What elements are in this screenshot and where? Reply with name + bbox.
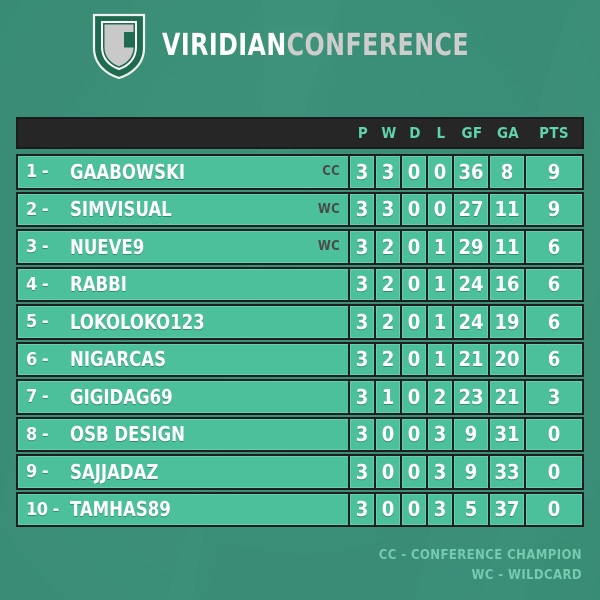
row-stat-w: 3: [376, 156, 402, 188]
row-stat-ga: 21: [490, 381, 526, 413]
table-row[interactable]: 3 -NUEVE9WC320129116: [16, 229, 584, 265]
row-stat-w: 2: [376, 344, 402, 376]
row-stat-p: 3: [350, 306, 376, 338]
row-rank: 9 -: [18, 456, 66, 488]
row-rank: 2 -: [18, 194, 66, 226]
standings-table: P W D L GF GA PTS 1 -GAABOWSKICC33003689…: [16, 117, 584, 529]
row-name-cell: RABBI: [66, 269, 350, 301]
row-team-name: RABBI: [70, 272, 127, 296]
row-stat-gf: 27: [454, 194, 490, 226]
row-stat-pts: 0: [526, 419, 582, 451]
table-row[interactable]: 6 -NIGARCAS320121206: [16, 342, 584, 378]
row-stat-l: 1: [428, 344, 454, 376]
row-stat-p: 3: [350, 269, 376, 301]
shield-icon: [90, 12, 148, 80]
column-header-ga: GA: [490, 124, 526, 142]
row-team-name: SAJJADAZ: [70, 460, 158, 484]
table-row[interactable]: 7 -GIGIDAG69310223213: [16, 379, 584, 415]
row-stat-w: 1: [376, 381, 402, 413]
row-rank: 7 -: [18, 381, 66, 413]
row-team-name: SIMVISUAL: [70, 197, 172, 221]
row-qualification-tag: CC: [322, 164, 340, 179]
row-qualification-tag: WC: [318, 202, 340, 217]
row-stat-gf: 23: [454, 381, 490, 413]
row-stat-pts: 6: [526, 231, 582, 263]
legend-line-cc: CC - CONFERENCE CHAMPION: [379, 546, 582, 566]
header: VIRIDIANCONFERENCE: [0, 0, 600, 92]
page-title: VIRIDIANCONFERENCE: [162, 31, 469, 61]
row-stat-pts: 6: [526, 344, 582, 376]
table-header-row: P W D L GF GA PTS: [16, 117, 584, 149]
row-stat-d: 0: [402, 494, 428, 526]
row-stat-gf: 24: [454, 269, 490, 301]
row-stat-gf: 24: [454, 306, 490, 338]
row-stat-w: 0: [376, 494, 402, 526]
table-row[interactable]: 4 -RABBI320124166: [16, 267, 584, 303]
column-header-pts: PTS: [526, 124, 582, 142]
row-rank: 3 -: [18, 231, 66, 263]
row-stat-d: 0: [402, 419, 428, 451]
column-header-d: D: [402, 124, 428, 142]
row-team-name: NUEVE9: [70, 235, 144, 259]
row-team-name: TAMHAS89: [70, 497, 171, 521]
row-stat-l: 0: [428, 156, 454, 188]
table-row[interactable]: 8 -OSB DESIGN30039310: [16, 417, 584, 453]
row-stat-p: 3: [350, 231, 376, 263]
row-name-cell: OSB DESIGN: [66, 419, 350, 451]
table-body: 1 -GAABOWSKICC330036892 -SIMVISUALWC3300…: [16, 154, 584, 527]
row-team-name: GAABOWSKI: [70, 160, 185, 184]
row-stat-ga: 11: [490, 194, 526, 226]
row-name-cell: NUEVE9WC: [66, 231, 350, 263]
row-stat-d: 0: [402, 231, 428, 263]
row-stat-ga: 31: [490, 419, 526, 451]
row-stat-w: 3: [376, 194, 402, 226]
row-stat-gf: 29: [454, 231, 490, 263]
table-row[interactable]: 2 -SIMVISUALWC330027119: [16, 192, 584, 228]
title-part-conference: CONFERENCE: [286, 28, 468, 63]
row-stat-l: 3: [428, 494, 454, 526]
row-stat-p: 3: [350, 494, 376, 526]
row-stat-gf: 9: [454, 419, 490, 451]
row-stat-ga: 33: [490, 456, 526, 488]
row-stat-w: 2: [376, 269, 402, 301]
row-stat-w: 2: [376, 231, 402, 263]
column-header-gf: GF: [454, 124, 490, 142]
row-stat-p: 3: [350, 344, 376, 376]
title-part-viridian: VIRIDIAN: [162, 28, 287, 63]
row-qualification-tag: WC: [318, 239, 340, 254]
row-name-cell: TAMHAS89: [66, 494, 350, 526]
row-stat-gf: 21: [454, 344, 490, 376]
column-header-w: W: [376, 124, 402, 142]
row-rank: 5 -: [18, 306, 66, 338]
row-stat-pts: 9: [526, 194, 582, 226]
row-stat-d: 0: [402, 344, 428, 376]
row-name-cell: LOKOLOKO123: [66, 306, 350, 338]
table-row[interactable]: 9 -SAJJADAZ30039330: [16, 454, 584, 490]
row-team-name: GIGIDAG69: [70, 385, 173, 409]
row-stat-w: 2: [376, 306, 402, 338]
row-stat-d: 0: [402, 306, 428, 338]
row-stat-ga: 19: [490, 306, 526, 338]
row-stat-w: 0: [376, 456, 402, 488]
row-rank: 8 -: [18, 419, 66, 451]
row-rank: 10 -: [18, 494, 66, 526]
row-stat-d: 0: [402, 194, 428, 226]
row-team-name: LOKOLOKO123: [70, 310, 205, 334]
row-stat-d: 0: [402, 269, 428, 301]
row-stat-pts: 0: [526, 494, 582, 526]
row-stat-ga: 16: [490, 269, 526, 301]
row-stat-p: 3: [350, 381, 376, 413]
row-team-name: NIGARCAS: [70, 347, 166, 371]
table-row[interactable]: 10 -TAMHAS8930035370: [16, 492, 584, 528]
row-rank: 1 -: [18, 156, 66, 188]
row-stat-pts: 6: [526, 269, 582, 301]
row-stat-ga: 8: [490, 156, 526, 188]
row-stat-d: 0: [402, 156, 428, 188]
row-stat-p: 3: [350, 156, 376, 188]
column-header-p: P: [350, 124, 376, 142]
row-stat-d: 0: [402, 456, 428, 488]
row-name-cell: NIGARCAS: [66, 344, 350, 376]
row-stat-ga: 37: [490, 494, 526, 526]
row-stat-pts: 3: [526, 381, 582, 413]
row-stat-p: 3: [350, 194, 376, 226]
table-row[interactable]: 5 -LOKOLOKO123320124196: [16, 304, 584, 340]
row-stat-gf: 36: [454, 156, 490, 188]
table-row[interactable]: 1 -GAABOWSKICC33003689: [16, 154, 584, 190]
row-rank: 6 -: [18, 344, 66, 376]
row-name-cell: GIGIDAG69: [66, 381, 350, 413]
row-name-cell: SAJJADAZ: [66, 456, 350, 488]
row-stat-l: 3: [428, 419, 454, 451]
legend-line-wc: WC - WILDCARD: [379, 566, 582, 586]
row-stat-gf: 5: [454, 494, 490, 526]
row-stat-d: 0: [402, 381, 428, 413]
row-stat-l: 0: [428, 194, 454, 226]
row-stat-ga: 20: [490, 344, 526, 376]
column-header-l: L: [428, 124, 454, 142]
row-stat-p: 3: [350, 419, 376, 451]
row-stat-gf: 9: [454, 456, 490, 488]
row-stat-pts: 0: [526, 456, 582, 488]
row-name-cell: GAABOWSKICC: [66, 156, 350, 188]
row-stat-l: 1: [428, 306, 454, 338]
row-stat-w: 0: [376, 419, 402, 451]
row-stat-l: 1: [428, 269, 454, 301]
legend: CC - CONFERENCE CHAMPION WC - WILDCARD: [379, 546, 582, 586]
row-stat-pts: 6: [526, 306, 582, 338]
row-stat-p: 3: [350, 456, 376, 488]
row-stat-l: 1: [428, 231, 454, 263]
row-team-name: OSB DESIGN: [70, 422, 185, 446]
standings-graphic: VIRIDIANCONFERENCE P W D L GF GA PTS 1 -…: [0, 0, 600, 600]
row-name-cell: SIMVISUALWC: [66, 194, 350, 226]
row-rank: 4 -: [18, 269, 66, 301]
row-stat-l: 3: [428, 456, 454, 488]
row-stat-pts: 9: [526, 156, 582, 188]
row-stat-ga: 11: [490, 231, 526, 263]
row-stat-l: 2: [428, 381, 454, 413]
